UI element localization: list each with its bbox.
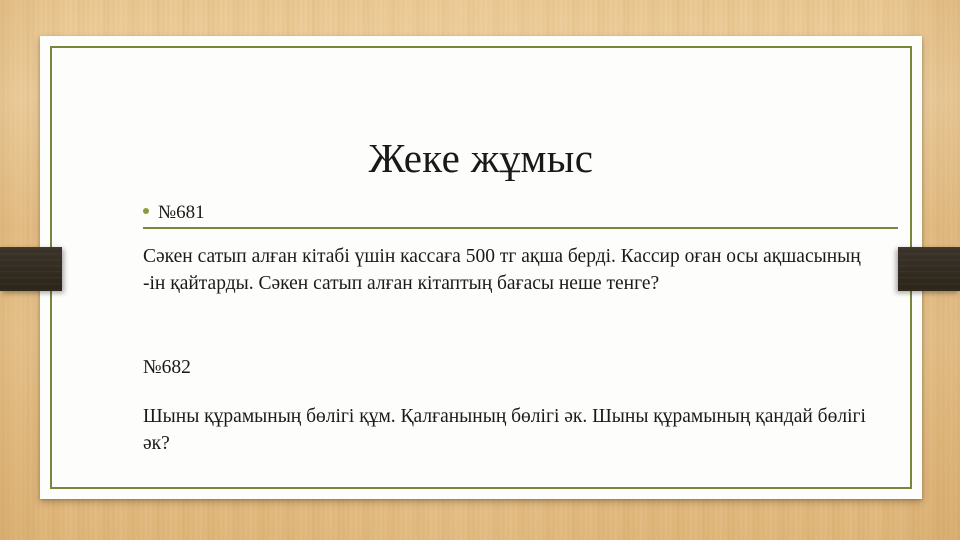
bullet-heading-row: №681 xyxy=(143,202,898,229)
bullet-heading-label: №681 xyxy=(158,202,205,224)
problem-682-text: Шыны құрамының бөлігі құм. Қалғанының бө… xyxy=(143,403,885,457)
page-title-text: Жеке жұмыс xyxy=(369,135,594,181)
side-tab-right xyxy=(898,247,960,291)
slide-card: Жеке жұмыс №681 Сәкен сатып алған кітабі… xyxy=(40,36,922,499)
side-tab-left xyxy=(0,247,62,291)
bullet-dot-icon xyxy=(143,208,149,214)
body-block: №681 Сәкен сатып алған кітабі үшін касса… xyxy=(143,202,898,457)
problem-681-text: Сәкен сатып алған кітабі үшін кассаға 50… xyxy=(143,243,885,297)
slide-canvas: Жеке жұмыс №681 Сәкен сатып алған кітабі… xyxy=(0,0,960,540)
page-title: Жеке жұмыс xyxy=(40,134,922,182)
problem-682-label: №682 xyxy=(143,354,898,381)
slide-content: Жеке жұмыс №681 Сәкен сатып алған кітабі… xyxy=(40,36,922,499)
